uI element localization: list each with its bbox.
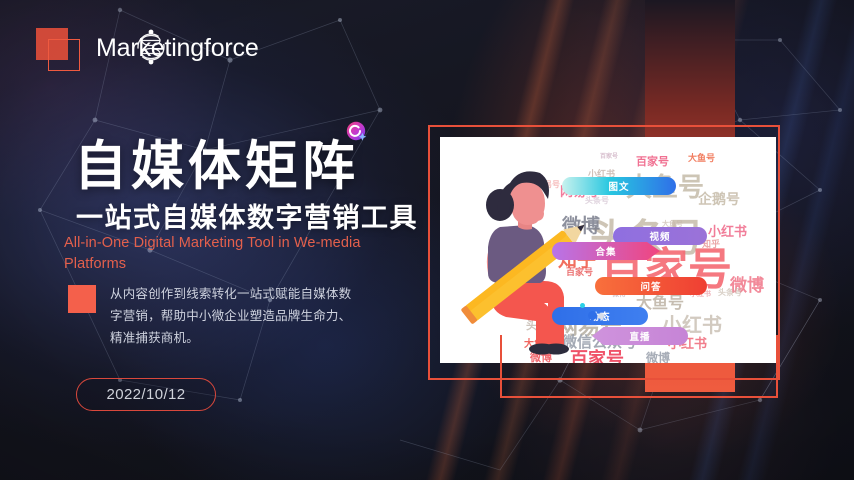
word-cloud-term: 百家号	[600, 151, 618, 160]
brand-logo[interactable]: Marketingforce	[32, 22, 259, 74]
date-badge: 2022/10/12	[76, 378, 216, 411]
tag-label: 合集	[595, 244, 616, 258]
bottom-right-outline-frame	[500, 335, 778, 398]
word-cloud-term: 大鱼号	[688, 151, 715, 164]
decor-dot-blue	[588, 311, 597, 320]
page-title: 自媒体矩阵	[74, 124, 359, 200]
tag-chip-wenda[interactable]: 问答	[595, 277, 707, 295]
tag-chip-tuwen[interactable]: 图文	[562, 177, 676, 195]
new-badge-icon	[345, 120, 369, 144]
description-marker-icon	[68, 285, 96, 313]
date-text: 2022/10/12	[106, 386, 185, 403]
slide-canvas: Marketingforce 自媒体矩阵 一站式自媒体数字营销工具 All-i	[0, 0, 854, 480]
decor-dot-cyan	[580, 303, 585, 308]
word-cloud-term: 头条号	[718, 287, 742, 298]
feature-card: 百家号大鱼号百家号小红书网易号大鱼号企鹅号网易号头条号头条号微博小红书大鱼号知乎…	[440, 137, 776, 363]
logo-squares-icon	[32, 24, 84, 72]
brand-name: Marketingforce	[96, 34, 259, 63]
tag-label: 视频	[649, 229, 670, 243]
page-subtitle: 一站式自媒体数字营销工具	[76, 196, 418, 235]
tag-chip-heji[interactable]: 合集	[552, 242, 660, 260]
tag-label: 问答	[640, 279, 661, 293]
description-text: 从内容创作到线索转化一站式赋能自媒体数字营销，帮助中小微企业塑造品牌生命力、精准…	[110, 283, 360, 349]
tag-label: 图文	[608, 179, 629, 193]
page-english-title: All-in-One Digital Marketing Tool in We-…	[64, 233, 394, 275]
description-block: 从内容创作到线索转化一站式赋能自媒体数字营销，帮助中小微企业塑造品牌生命力、精准…	[68, 283, 360, 349]
decor-dot-gray	[598, 313, 604, 319]
word-cloud-term: 企鹅号	[698, 189, 740, 209]
